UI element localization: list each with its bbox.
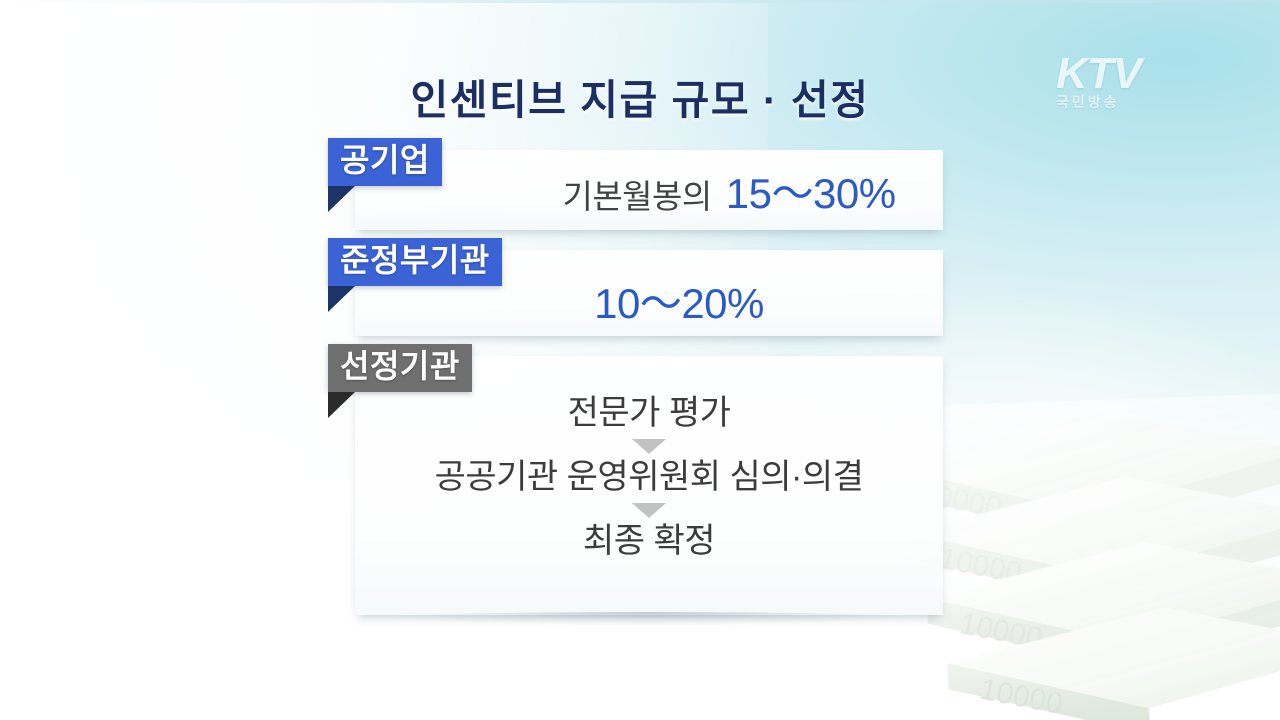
row-label-text: 선정기관 <box>340 348 460 384</box>
row-label-selection-body: 선정기관 <box>328 344 472 392</box>
row-label-public-enterprise: 공기업 <box>328 138 442 186</box>
row-prefix-label: 기본월봉의 <box>562 170 711 218</box>
row-value: 10〜20% <box>594 280 764 327</box>
ribbon-fold-corner <box>328 286 355 312</box>
row-value-group: 기본월봉의 15〜30% <box>402 160 895 221</box>
row-selection-process: 선정기관 전문가 평가 공공기관 운영위원회 심의·의결 최종 확정 <box>328 356 943 615</box>
row-label-quasi-government: 준정부기관 <box>328 238 502 286</box>
row-label-text: 공기업 <box>340 142 430 178</box>
row-public-enterprise: 공기업 기본월봉의 15〜30% <box>328 150 943 230</box>
ribbon-fold-corner <box>328 186 355 212</box>
page-title: 인센티브 지급 규모 · 선정 <box>0 66 1280 126</box>
row-label-text: 준정부기관 <box>340 242 490 278</box>
flow-step-1: 전문가 평가 <box>355 394 943 433</box>
row-panel-public-enterprise: 기본월봉의 15〜30% <box>355 150 943 230</box>
ribbon-fold-corner <box>328 392 355 418</box>
flow-step-3: 최종 확정 <box>355 522 943 561</box>
flow-arrow-down-icon <box>632 503 666 518</box>
broadcast-graphic-stage: 10000 10000 10000 10000 <box>0 0 1280 720</box>
background-top-edge <box>0 0 1280 3</box>
row-panel-selection-process: 전문가 평가 공공기관 운영위원회 심의·의결 최종 확정 <box>355 356 943 615</box>
selection-flow-diagram: 전문가 평가 공공기관 운영위원회 심의·의결 최종 확정 <box>355 394 943 561</box>
row-quasi-government: 준정부기관 10〜20% <box>328 250 943 336</box>
row-value: 15〜30% <box>726 160 896 221</box>
panel-bottom-shadow <box>361 612 937 626</box>
flow-arrow-down-icon <box>632 439 666 454</box>
flow-step-2: 공공기관 운영위원회 심의·의결 <box>355 458 943 497</box>
content-rows: 공기업 기본월봉의 15〜30% 준정부기관 <box>328 150 943 615</box>
